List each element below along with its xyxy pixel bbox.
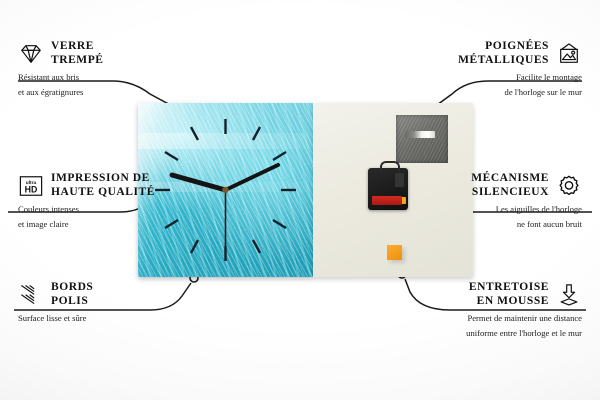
feature-title-line2: POLIS — [51, 295, 93, 309]
feature-desc-line2: uniforme entre l'horloge et le mur — [466, 328, 582, 338]
feature-desc-line1: Couleurs intenses — [18, 204, 155, 214]
feature-title-line2: TREMPÉ — [51, 54, 104, 68]
feature-mecanisme-header: MÉCANISME SILENCIEUX — [471, 172, 582, 199]
feature-title-line1: POIGNÉES — [458, 40, 549, 54]
feature-desc-line2: et image claire — [18, 219, 155, 229]
feature-title-line1: IMPRESSION DE — [51, 172, 155, 186]
feature-desc-line1: Résistant aux bris — [18, 72, 104, 82]
picture-hanger-icon — [556, 42, 582, 66]
feature-desc-line2: et aux égratignures — [18, 87, 104, 97]
feature-title-line2: HAUTE QUALITÉ — [51, 186, 155, 200]
hour-hand — [172, 175, 226, 190]
feature-verre-trempe: VERRE TREMPÉ Résistant aux bris et aux é… — [18, 40, 104, 98]
feature-poignees: POIGNÉES MÉTALLIQUES Facilite le montage… — [458, 40, 582, 98]
quartz-mechanism — [368, 168, 408, 210]
feature-title-line1: MÉCANISME — [471, 172, 549, 186]
polished-edges-icon — [18, 283, 44, 307]
mechanism-panel — [395, 173, 404, 187]
mechanism-hook — [380, 161, 400, 172]
feature-title-line1: VERRE — [51, 40, 104, 54]
feature-title-line2: MÉTALLIQUES — [458, 54, 549, 68]
feature-bords-polis-header: BORDS POLIS — [18, 281, 93, 308]
metal-hanger-plate — [396, 115, 448, 163]
foam-spacer-icon — [556, 283, 582, 307]
foam-spacer — [387, 245, 402, 260]
feature-bords-polis: BORDS POLIS Surface lisse et sûre — [18, 281, 93, 323]
minute-hand — [226, 165, 279, 190]
feature-desc-line2: ne font aucun bruit — [471, 219, 582, 229]
feature-entretoise: ENTRETOISE EN MOUSSE Permet de maintenir… — [466, 281, 582, 339]
battery — [372, 196, 402, 205]
feature-title-line2: SILENCIEUX — [471, 186, 549, 200]
feature-impression: ultra HD IMPRESSION DE HAUTE QUALITÉ Cou… — [18, 172, 155, 230]
gear-icon — [556, 174, 582, 198]
feature-desc-line1: Permet de maintenir une distance — [466, 313, 582, 323]
diamond-icon — [18, 42, 44, 66]
feature-entretoise-header: ENTRETOISE EN MOUSSE — [466, 281, 582, 308]
product-clock-front — [138, 103, 313, 277]
feature-desc-line2: de l'horloge sur le mur — [458, 87, 582, 97]
ultra-hd-main-text: HD — [25, 184, 38, 194]
product-clock-back — [313, 103, 473, 277]
feature-verre-trempe-header: VERRE TREMPÉ — [18, 40, 104, 67]
feature-title-line1: BORDS — [51, 281, 93, 295]
hanger-slot — [405, 131, 435, 138]
ultra-hd-icon: ultra HD — [18, 174, 44, 198]
feature-title-line2: EN MOUSSE — [469, 295, 549, 309]
feature-poignees-header: POIGNÉES MÉTALLIQUES — [458, 40, 582, 67]
hands-hub — [222, 187, 228, 193]
feature-impression-header: ultra HD IMPRESSION DE HAUTE QUALITÉ — [18, 172, 155, 199]
feature-desc-line1: Surface lisse et sûre — [18, 313, 93, 323]
feature-desc-line1: Facilite le montage — [458, 72, 582, 82]
infographic-canvas: VERRE TREMPÉ Résistant aux bris et aux é… — [0, 0, 600, 400]
clock-hands — [138, 103, 313, 277]
feature-desc-line1: Les aiguilles de l'horloge — [471, 204, 582, 214]
feature-title-line1: ENTRETOISE — [469, 281, 549, 295]
feature-mecanisme: MÉCANISME SILENCIEUX Les aiguilles de l'… — [471, 172, 582, 230]
